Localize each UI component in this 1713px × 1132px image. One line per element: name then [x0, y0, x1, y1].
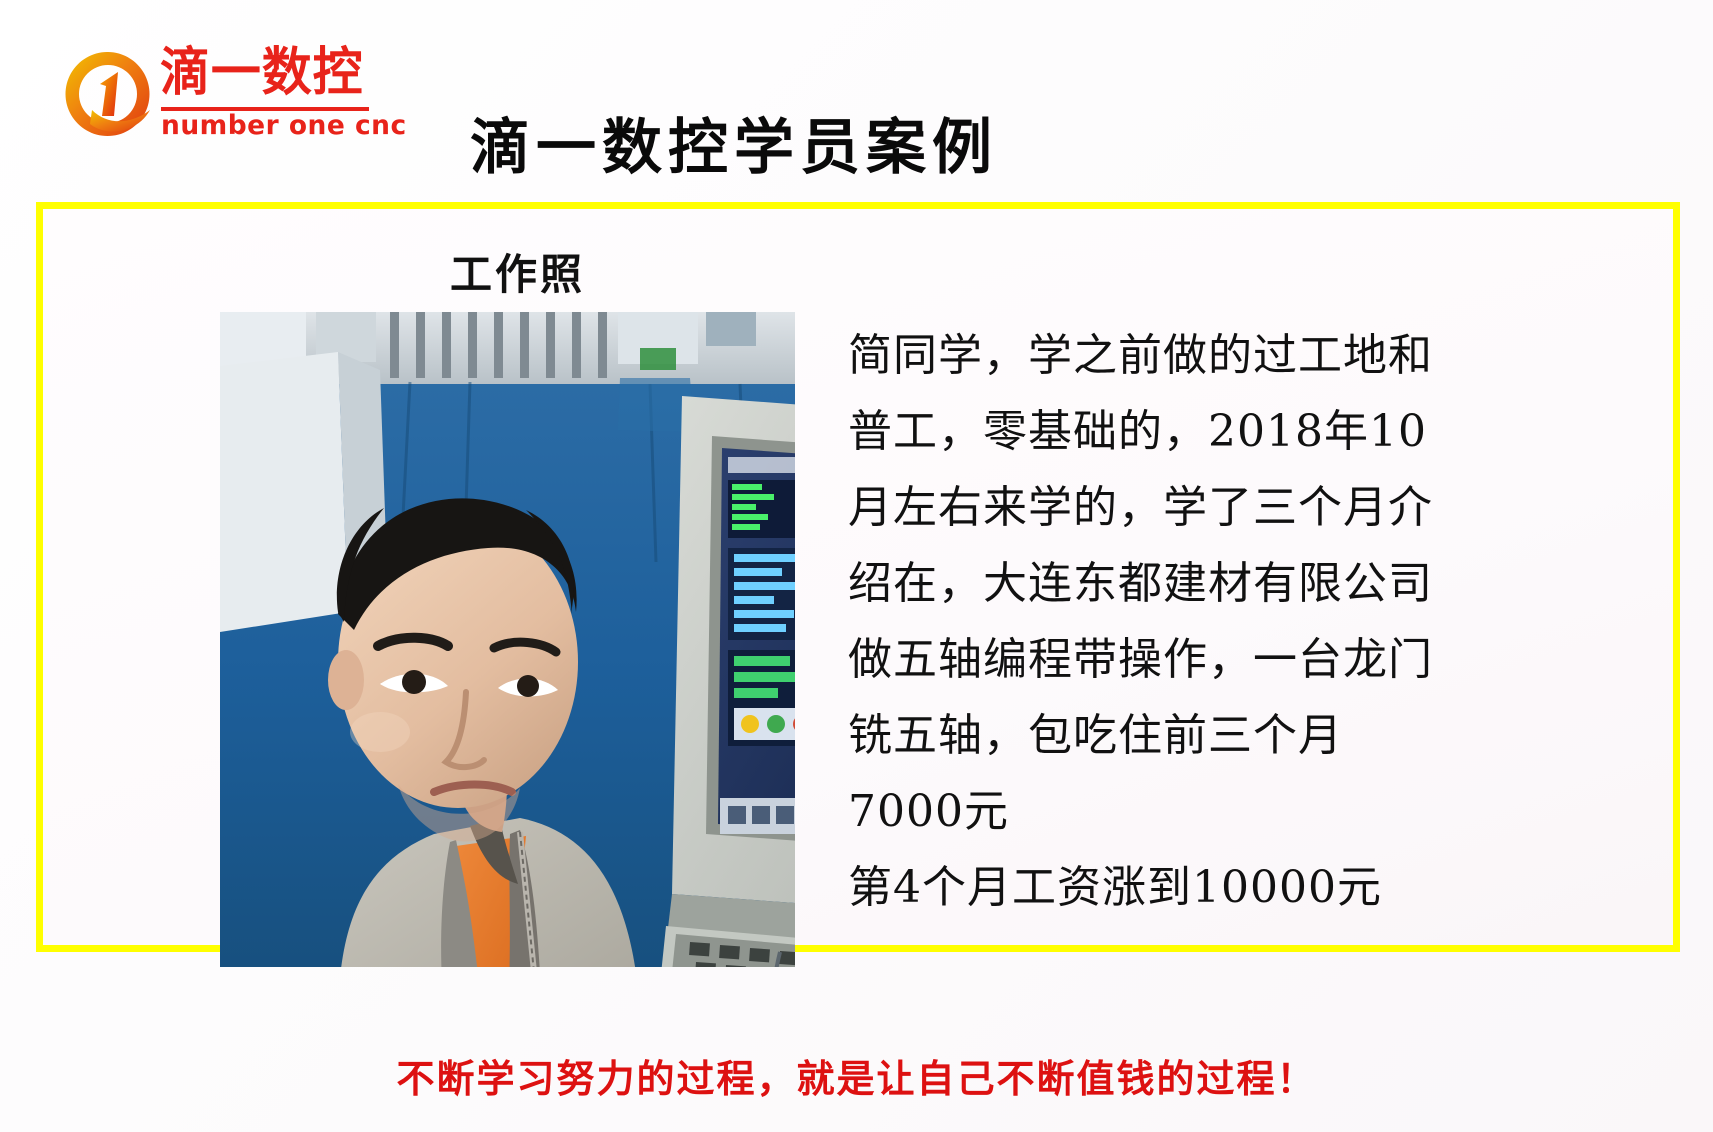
- page-title: 滴一数控学员案例: [470, 112, 998, 184]
- testimonial-line: 7000元: [848, 774, 1528, 850]
- brand-chinese-name: 滴一数控: [160, 44, 364, 102]
- number-one-circle-swoosh-icon: [62, 48, 154, 140]
- testimonial-line: 做五轴编程带操作，一台龙门: [848, 622, 1528, 698]
- testimonial-line: 铣五轴，包吃住前三个月: [848, 698, 1528, 774]
- testimonial-line: 第4个月工资涨到10000元: [848, 850, 1528, 926]
- footer-slogan: 不断学习努力的过程，就是让自己不断值钱的过程！: [0, 1052, 1713, 1106]
- student-work-photo: 东: [220, 312, 795, 967]
- brand-logo: 滴一数控 number one cnc: [62, 42, 372, 147]
- testimonial-line: 绍在，大连东都建材有限公司: [848, 546, 1528, 622]
- testimonial-line: 月左右来学的，学了三个月介: [848, 470, 1528, 546]
- brand-english-name: number one cnc: [161, 110, 407, 142]
- testimonial-line: 普工，零基础的，2018年10: [848, 394, 1528, 470]
- testimonial-text: 简同学，学之前做的过工地和 普工，零基础的，2018年10 月左右来学的，学了三…: [848, 318, 1528, 926]
- brand-wordmark: 滴一数控 number one cnc: [160, 44, 372, 144]
- testimonial-line: 简同学，学之前做的过工地和: [848, 318, 1528, 394]
- photo-caption: 工作照: [450, 250, 585, 300]
